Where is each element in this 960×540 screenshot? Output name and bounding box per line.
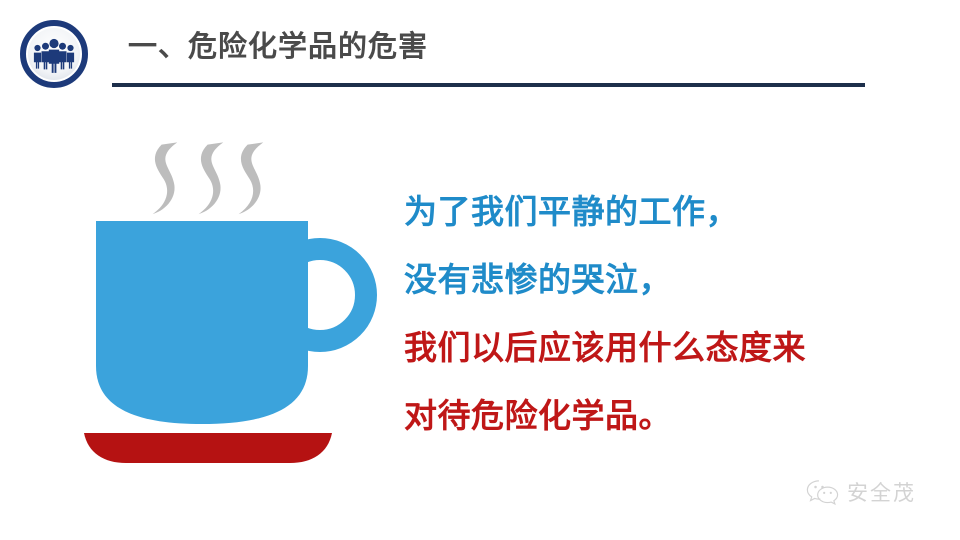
watermark: 安全茂 bbox=[806, 479, 916, 507]
header-divider bbox=[112, 83, 865, 87]
cup-saucer bbox=[84, 433, 332, 463]
quote-line-1: 为了我们平静的工作， bbox=[404, 178, 924, 246]
watermark-label: 安全茂 bbox=[847, 483, 916, 504]
cup-body bbox=[96, 221, 308, 424]
slide-canvas: 一、危险化学品的危害 为了我们平静的工作， 没有悲惨的哭泣， 我们以后应该用什么… bbox=[0, 0, 960, 540]
steaming-coffee-cup-illustration bbox=[80, 120, 380, 470]
page-title: 一、危险化学品的危害 bbox=[128, 33, 428, 62]
quote-line-2: 没有悲惨的哭泣， bbox=[404, 246, 924, 314]
quote-line-4: 对待危险化学品。 bbox=[404, 382, 924, 450]
wechat-icon bbox=[806, 479, 840, 507]
quote-line-3: 我们以后应该用什么态度来 bbox=[404, 314, 924, 382]
group-of-people-circle-icon bbox=[20, 20, 88, 88]
quote-text-block: 为了我们平静的工作， 没有悲惨的哭泣， 我们以后应该用什么态度来 对待危险化学品… bbox=[404, 178, 924, 450]
steam-icon bbox=[153, 142, 264, 214]
